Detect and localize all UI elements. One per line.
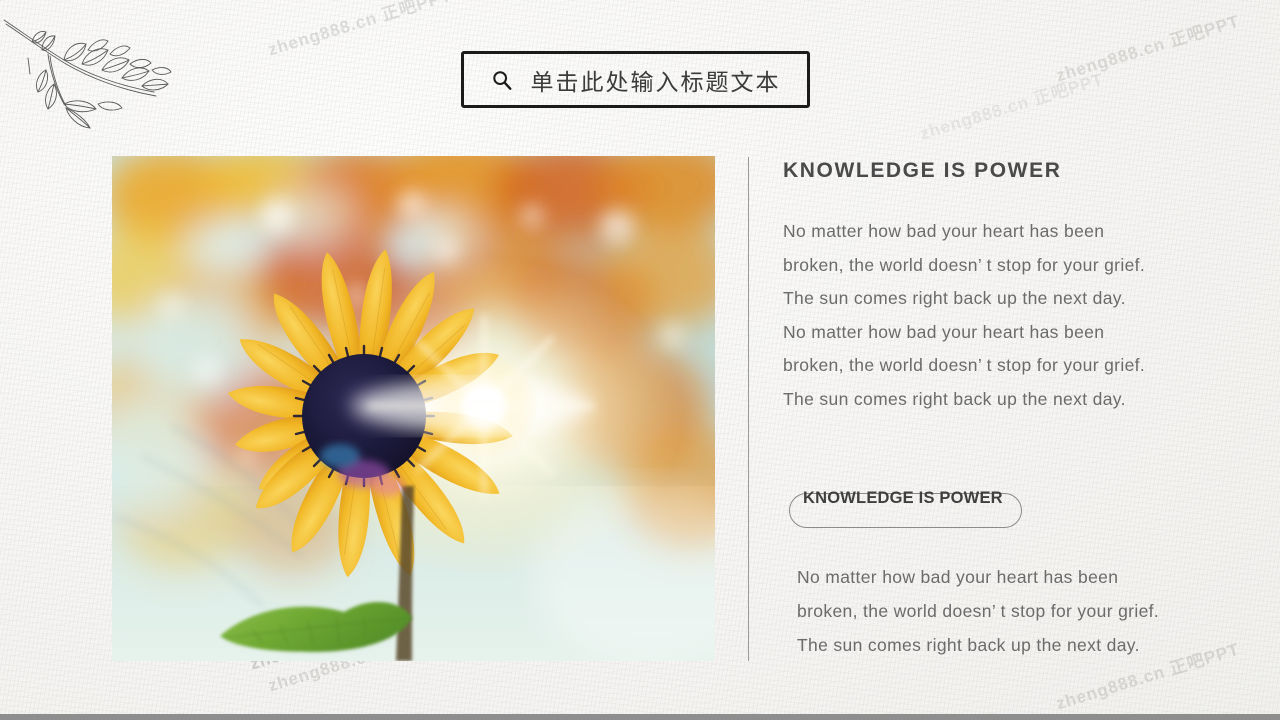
paragraph-line: No matter how bad your heart has been (783, 215, 1253, 249)
vertical-divider (748, 157, 749, 661)
secondary-paragraph: No matter how bad your heart has been br… (797, 560, 1257, 662)
watermark: zheng888.cn 正吧PPT (916, 65, 1106, 145)
leaf-branch-decoration (2, 8, 202, 138)
paragraph-line: broken, the world doesn’ t stop for your… (797, 594, 1257, 628)
watermark: zheng888.cn 正吧PPT (1052, 7, 1242, 87)
watermark: zheng888.cn 正吧PPT (264, 0, 454, 60)
paragraph-line: No matter how bad your heart has been (783, 316, 1253, 350)
search-icon (491, 69, 513, 91)
slide-canvas: zheng888.cn 正吧PPT zheng888.cn 正吧PPT zhen… (0, 0, 1280, 720)
paragraph-line: The sun comes right back up the next day… (783, 282, 1253, 316)
paragraph-line: broken, the world doesn’ t stop for your… (783, 249, 1253, 283)
paragraph-line: The sun comes right back up the next day… (797, 628, 1257, 662)
right-content-column: KNOWLEDGE IS POWER No matter how bad you… (783, 158, 1253, 416)
paragraph-line: broken, the world doesn’ t stop for your… (783, 349, 1253, 383)
title-input-box[interactable]: 单击此处输入标题文本 (461, 51, 810, 108)
primary-paragraph: No matter how bad your heart has been br… (783, 215, 1253, 416)
bottom-bar (0, 714, 1280, 720)
pill-heading-label: KNOWLEDGE IS POWER (803, 486, 1003, 510)
title-text: 单击此处输入标题文本 (531, 63, 781, 97)
paragraph-line: The sun comes right back up the next day… (783, 383, 1253, 417)
sunflower-photo (112, 156, 715, 661)
paragraph-line: No matter how bad your heart has been (797, 560, 1257, 594)
page-title: KNOWLEDGE IS POWER (783, 158, 1253, 183)
